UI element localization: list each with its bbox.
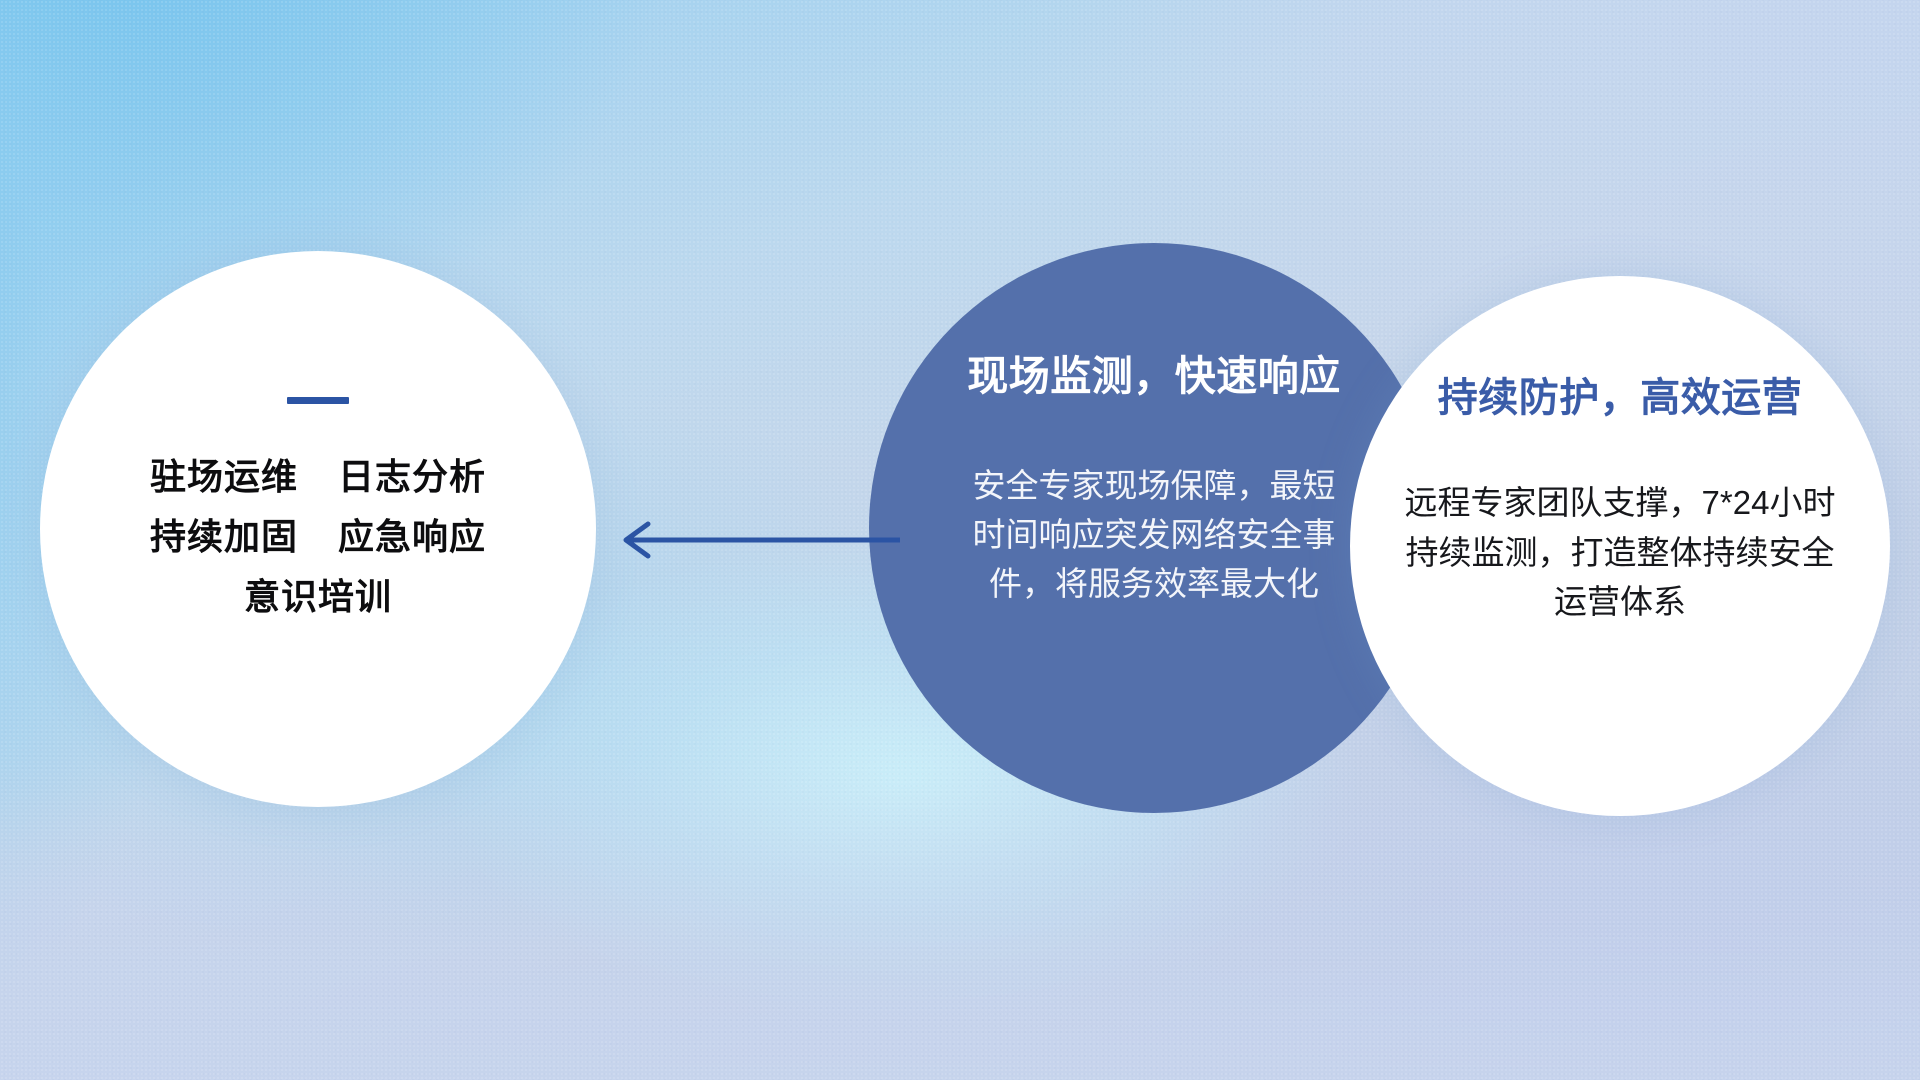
middle-circle-body: 安全专家现场保障，最短时间响应突发网络安全事件，将服务效率最大化 xyxy=(964,462,1344,608)
middle-circle-content: 现场监测，快速响应 安全专家现场保障，最短时间响应突发网络安全事件，将服务效率最… xyxy=(939,354,1369,609)
keyword-item: 应急响应 xyxy=(338,518,486,556)
keyword-row: 驻场运维 日志分析 xyxy=(150,458,486,496)
keyword-list: 驻场运维 日志分析 持续加固 应急响应 意识培训 xyxy=(150,458,486,615)
keyword-row: 持续加固 应急响应 xyxy=(150,518,486,556)
right-circle-content: 持续防护，高效运营 远程专家团队支撑，7*24小时持续监测，打造整体持续安全运营… xyxy=(1385,376,1855,627)
keyword-item: 持续加固 xyxy=(150,518,298,556)
keyword-item: 驻场运维 xyxy=(150,458,298,496)
keyword-row: 意识培训 xyxy=(244,578,392,616)
right-continuous-circle: 持续防护，高效运营 远程专家团队支撑，7*24小时持续监测，打造整体持续安全运营… xyxy=(1350,276,1890,816)
arrow-left-icon xyxy=(600,512,900,568)
left-circle-content: 驻场运维 日志分析 持续加固 应急响应 意识培训 xyxy=(40,397,596,615)
middle-circle-title: 现场监测，快速响应 xyxy=(967,354,1341,399)
left-keyword-circle: 驻场运维 日志分析 持续加固 应急响应 意识培训 xyxy=(40,251,596,807)
keyword-item: 意识培训 xyxy=(244,578,392,616)
right-circle-title: 持续防护，高效运营 xyxy=(1438,376,1803,420)
slide-canvas: 驻场运维 日志分析 持续加固 应急响应 意识培训 现场监测，快速响应 安全专家现… xyxy=(0,0,1920,1080)
right-circle-body: 远程专家团队支撑，7*24小时持续监测，打造整体持续安全运营体系 xyxy=(1396,478,1844,627)
flow-arrow xyxy=(600,512,900,568)
keyword-item: 日志分析 xyxy=(338,458,486,496)
accent-dash-icon xyxy=(287,397,349,404)
